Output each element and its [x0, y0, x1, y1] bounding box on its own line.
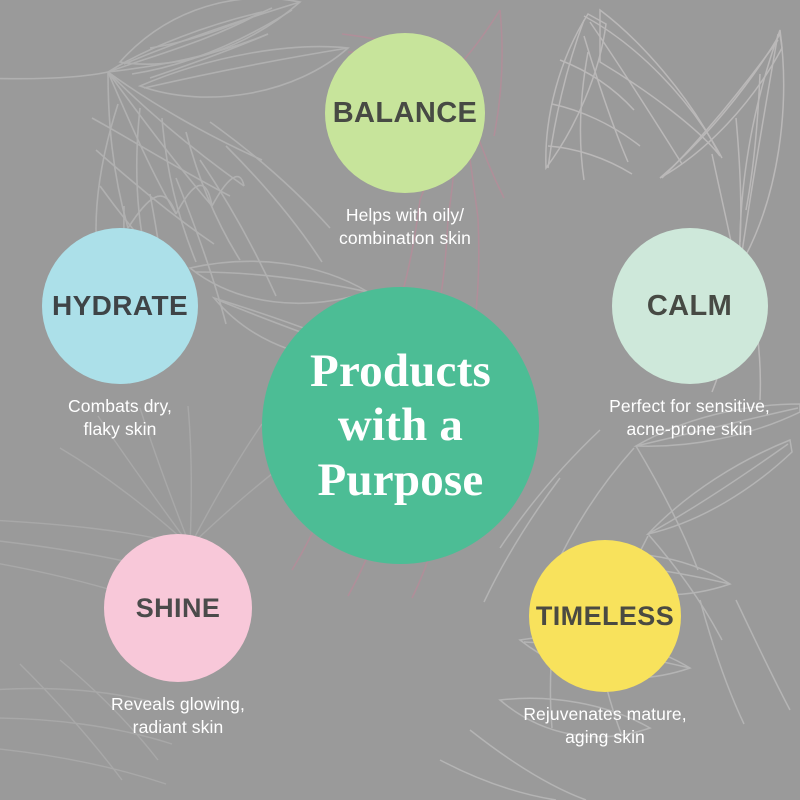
bubble-shine[interactable]: SHINE — [104, 534, 252, 682]
infographic-canvas: Products with a Purpose BALANCE Helps wi… — [0, 0, 800, 800]
node-calm[interactable]: CALM Perfect for sensitive, acne-prone s… — [587, 228, 792, 441]
bubble-balance[interactable]: BALANCE — [325, 33, 485, 193]
node-hydrate[interactable]: HYDRATE Combats dry, flaky skin — [20, 228, 220, 441]
bubble-label-hydrate: HYDRATE — [52, 292, 188, 320]
bubble-calm[interactable]: CALM — [612, 228, 768, 384]
caption-hydrate: Combats dry, flaky skin — [68, 395, 172, 441]
page-title: Products with a Purpose — [310, 344, 491, 508]
center-hub[interactable]: Products with a Purpose — [262, 287, 539, 564]
bubble-label-calm: CALM — [647, 292, 732, 321]
caption-timeless: Rejuvenates mature, aging skin — [523, 703, 686, 749]
caption-shine: Reveals glowing, radiant skin — [111, 693, 245, 739]
bubble-label-timeless: TIMELESS — [536, 603, 674, 630]
node-balance[interactable]: BALANCE Helps with oily/ combination ski… — [305, 33, 505, 250]
bubble-label-balance: BALANCE — [333, 99, 478, 128]
bubble-hydrate[interactable]: HYDRATE — [42, 228, 198, 384]
caption-calm: Perfect for sensitive, acne-prone skin — [609, 395, 770, 441]
bubble-label-shine: SHINE — [136, 595, 221, 622]
node-shine[interactable]: SHINE Reveals glowing, radiant skin — [28, 534, 328, 739]
node-timeless[interactable]: TIMELESS Rejuvenates mature, aging skin — [455, 540, 755, 749]
bubble-timeless[interactable]: TIMELESS — [529, 540, 681, 692]
caption-balance: Helps with oily/ combination skin — [339, 204, 471, 250]
